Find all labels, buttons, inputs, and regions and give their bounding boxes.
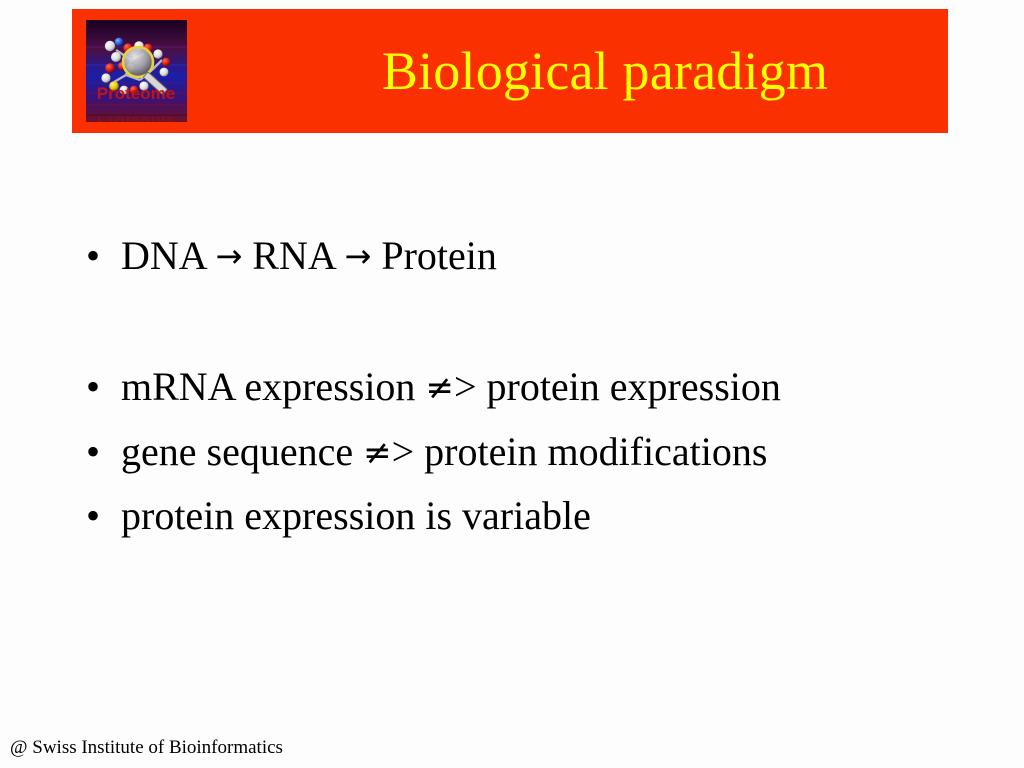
bullet-marker: • — [86, 432, 121, 472]
list-item: • DNA → RNA → Protein — [86, 236, 497, 276]
slide-body: • DNA → RNA → Protein • mRNA expression … — [0, 0, 1024, 768]
list-item: • protein expression is variable — [86, 496, 591, 536]
text-fragment: > protein expression — [454, 364, 781, 409]
bullet-text-protein-variable: protein expression is variable — [121, 496, 591, 536]
footer-credit: @ Swiss Institute of Bioinformatics — [10, 738, 283, 757]
list-item: • gene sequence ≠> protein modifications — [86, 432, 767, 472]
text-fragment: mRNA expression — [121, 364, 425, 409]
bullet-text-central-dogma: DNA → RNA → Protein — [121, 236, 497, 276]
text-fragment: > protein modifications — [392, 429, 768, 474]
bullet-marker: • — [86, 496, 121, 536]
text-fragment: DNA — [121, 233, 215, 278]
bullet-marker: • — [86, 367, 121, 407]
right-arrow-symbol: → — [345, 237, 372, 275]
text-fragment: gene sequence — [121, 429, 363, 474]
not-equal-symbol: ≠ — [363, 433, 392, 473]
text-fragment: Protein — [371, 233, 497, 278]
slide-canvas: Biological paradigm — [0, 0, 1024, 768]
bullet-text-mrna-expression: mRNA expression ≠> protein expression — [121, 367, 781, 407]
right-arrow-symbol: → — [215, 237, 242, 275]
bullet-text-gene-sequence: gene sequence ≠> protein modifications — [121, 432, 767, 472]
list-item: • mRNA expression ≠> protein expression — [86, 367, 781, 407]
text-fragment: RNA — [242, 233, 344, 278]
bullet-marker: • — [86, 236, 121, 276]
not-equal-symbol: ≠ — [425, 368, 454, 408]
